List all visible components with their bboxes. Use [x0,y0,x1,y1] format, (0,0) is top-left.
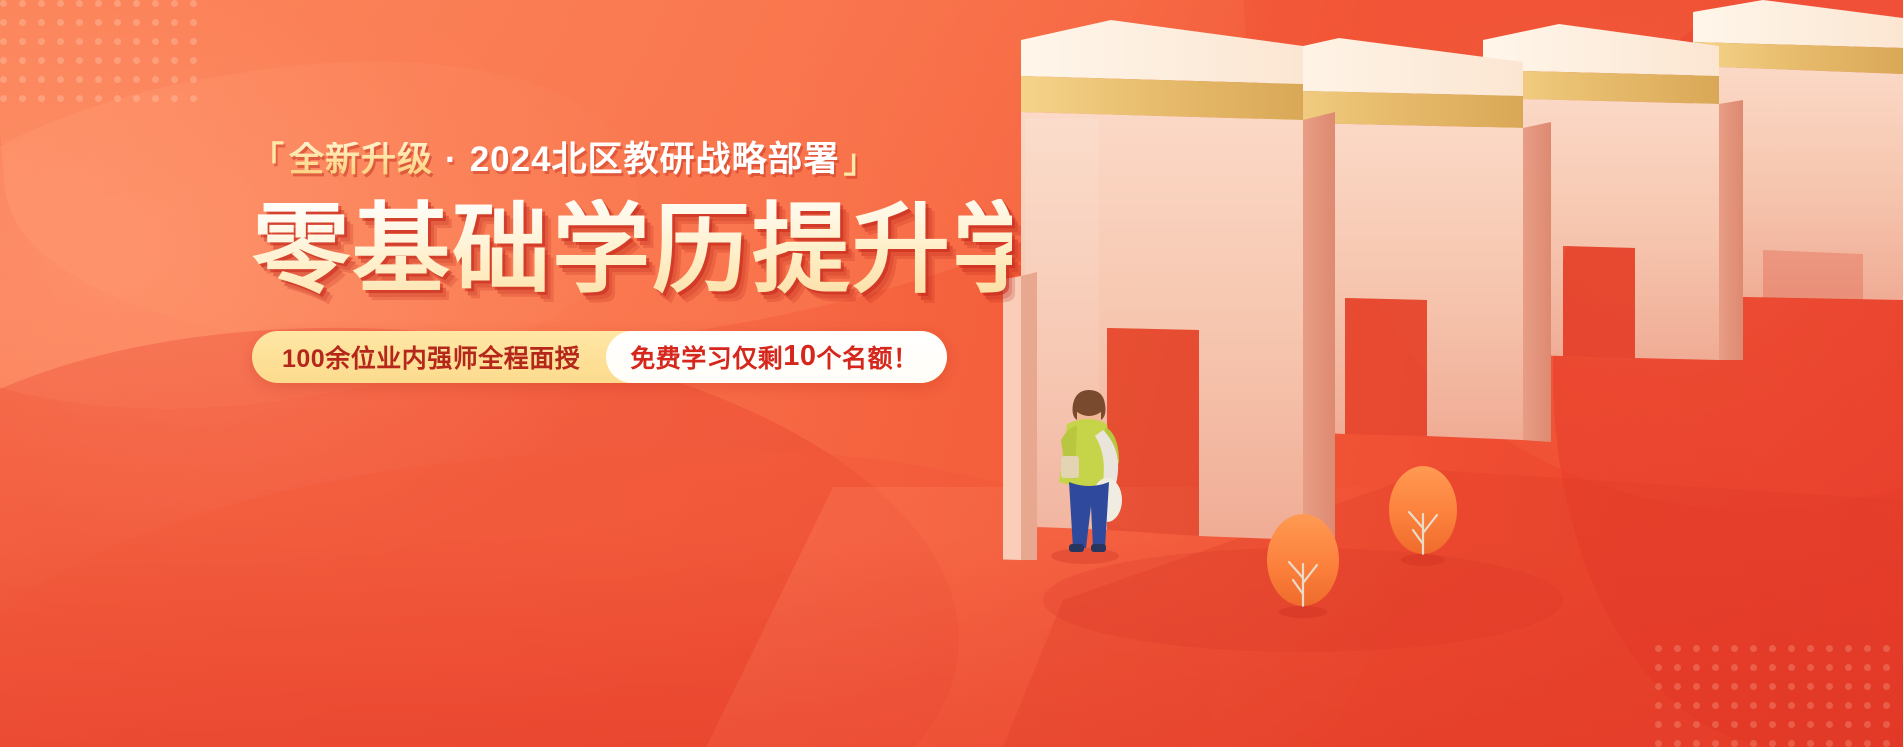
subtitle-separator: · [445,142,458,177]
illustration-arches [1003,0,1903,747]
dot-pattern-top-left [0,0,200,96]
badge-free-slots-prefix: 免费学习仅剩 [630,339,783,375]
banner-content: 「 全新升级 · 2024北区教研战略部署 」 零基础学历提升学霸班 100余位… [252,142,1012,383]
badge-free-slots[interactable]: 免费学习仅剩10个名额！ [606,331,946,383]
badge-group: 100余位业内强师全程面授 免费学习仅剩10个名额！ [252,331,947,383]
badge-teachers: 100余位业内强师全程面授 [252,331,606,383]
banner-subtitle: 「 全新升级 · 2024北区教研战略部署 」 [252,142,1012,177]
subtitle-main: 2024北区教研战略部署 [470,142,840,177]
bracket-close-icon: 」 [844,145,877,177]
promo-banner: 「 全新升级 · 2024北区教研战略部署 」 零基础学历提升学霸班 100余位… [0,0,1903,747]
badge-free-slots-suffix: 个名额！ [817,339,919,375]
page-title: 零基础学历提升学霸班 [252,199,1012,301]
subtitle-highlight: 全新升级 [289,142,433,177]
bracket-open-icon: 「 [252,142,285,174]
badge-free-slots-count: 10 [783,340,816,373]
